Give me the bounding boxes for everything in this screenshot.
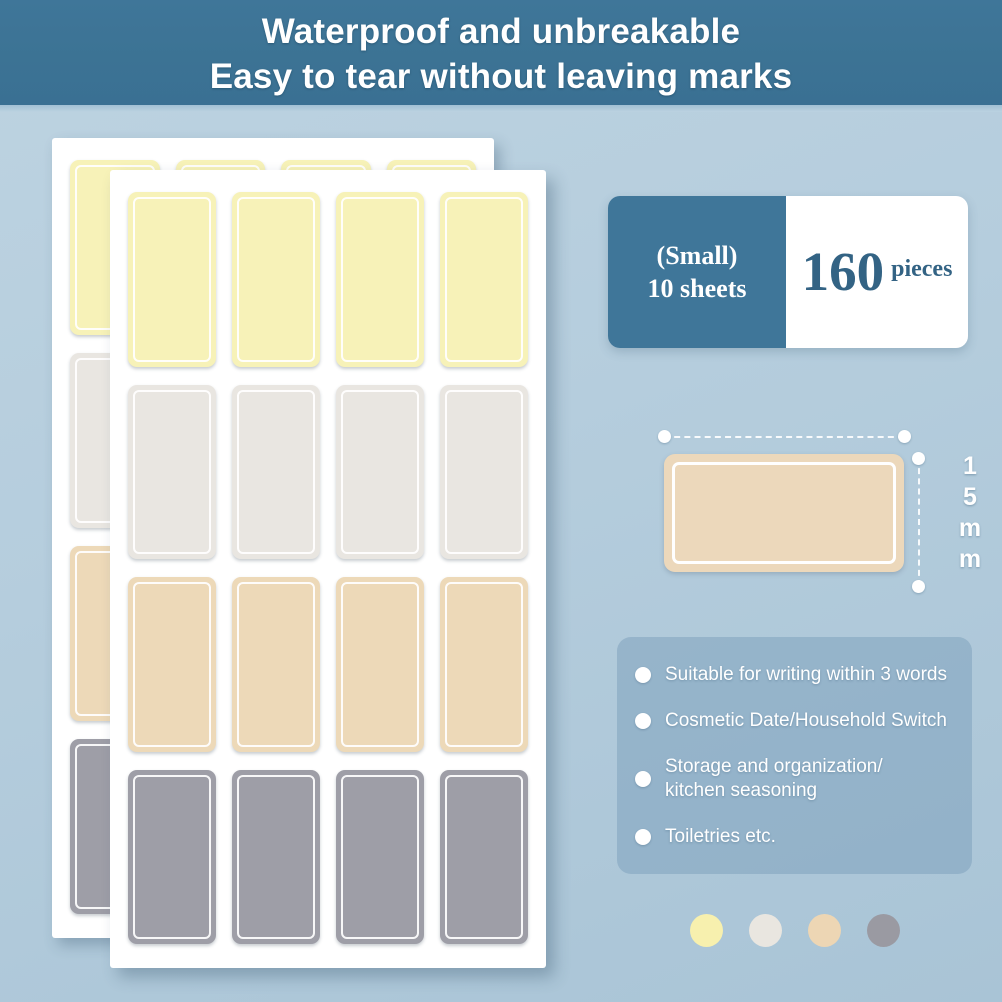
dimension-width-dashed-line	[664, 436, 904, 438]
label-grid-front	[110, 170, 546, 968]
dimension-dot-top-right	[898, 430, 911, 443]
badge-size-panel: (Small) 10 sheets	[608, 196, 786, 348]
color-swatch-row	[690, 910, 900, 950]
sticker-label	[336, 192, 424, 367]
sticker-label	[440, 385, 528, 560]
badge-count-panel: 160 pieces	[786, 196, 968, 348]
sticker-label	[232, 385, 320, 560]
sticker-label	[440, 577, 528, 752]
sticker-label	[336, 385, 424, 560]
bullet-icon	[635, 829, 651, 845]
feature-item: Suitable for writing within 3 words	[635, 663, 954, 687]
header-banner: Waterproof and unbreakable Easy to tear …	[0, 0, 1002, 105]
dimension-dot-right-bottom	[912, 580, 925, 593]
banner-headline-2: Easy to tear without leaving marks	[210, 54, 793, 99]
feature-item: Cosmetic Date/Household Switch	[635, 709, 954, 733]
sticker-label	[232, 770, 320, 945]
count-badge: (Small) 10 sheets 160 pieces	[608, 196, 968, 348]
sticker-label	[440, 770, 528, 945]
color-swatch-pale-yellow[interactable]	[690, 914, 723, 947]
sticker-label	[128, 770, 216, 945]
sticker-label	[440, 192, 528, 367]
sticker-label	[128, 192, 216, 367]
product-infographic: Waterproof and unbreakable Easy to tear …	[0, 0, 1002, 1002]
bullet-icon	[635, 713, 651, 729]
banner-headline-1: Waterproof and unbreakable	[262, 9, 740, 54]
color-swatch-off-white[interactable]	[749, 914, 782, 947]
color-swatch-beige[interactable]	[808, 914, 841, 947]
sticker-label	[232, 192, 320, 367]
color-swatch-gray[interactable]	[867, 914, 900, 947]
dimension-diagram: 30mm 15mm	[620, 392, 980, 592]
feature-item: Storage and organization/kitchen seasoni…	[635, 755, 954, 803]
badge-count-number: 160	[802, 244, 885, 299]
badge-sheets-label: 10 sheets	[648, 272, 747, 305]
badge-count-unit: pieces	[891, 257, 952, 285]
sample-label-swatch	[664, 454, 904, 572]
bullet-icon	[635, 667, 651, 683]
sticker-label	[128, 577, 216, 752]
dimension-height-label: 15mm	[955, 452, 984, 576]
features-panel: Suitable for writing within 3 wordsCosme…	[617, 637, 972, 874]
feature-text: Toiletries etc.	[665, 825, 776, 849]
feature-text: Cosmetic Date/Household Switch	[665, 709, 947, 733]
sticker-label	[128, 385, 216, 560]
feature-item: Toiletries etc.	[635, 825, 954, 849]
sticker-label	[336, 770, 424, 945]
feature-text: Storage and organization/kitchen seasoni…	[665, 755, 883, 803]
sticker-sheet-front	[110, 170, 546, 968]
sticker-label	[232, 577, 320, 752]
bullet-icon	[635, 771, 651, 787]
dimension-height-dashed-line	[918, 458, 920, 586]
badge-size-label: (Small)	[657, 239, 738, 272]
dimension-dot-top-left	[658, 430, 671, 443]
banner-underline	[0, 105, 1002, 112]
sticker-label	[336, 577, 424, 752]
feature-text: Suitable for writing within 3 words	[665, 663, 947, 687]
dimension-dot-right-top	[912, 452, 925, 465]
